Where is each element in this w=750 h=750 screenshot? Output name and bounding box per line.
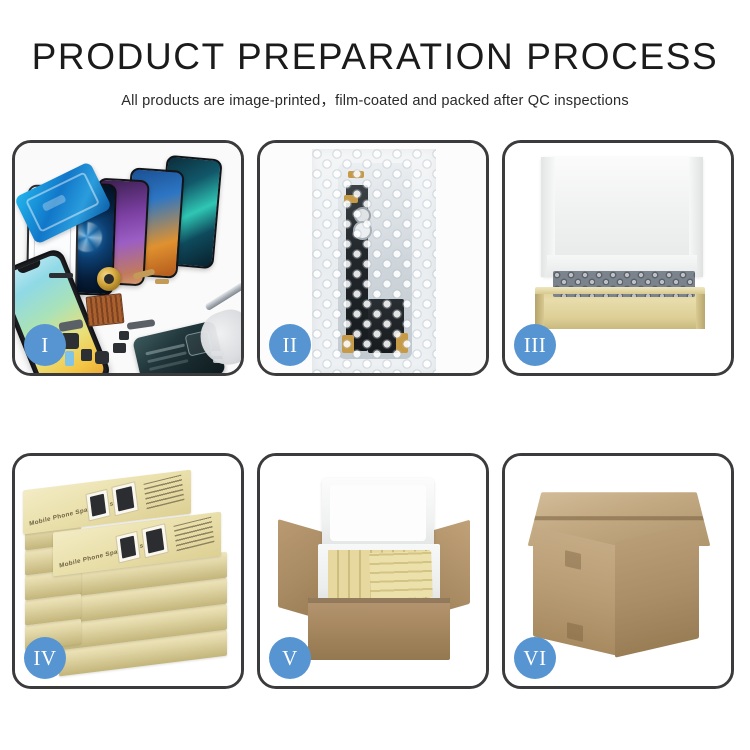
process-step-panel-1[interactable]: I: [12, 140, 244, 376]
box-spec-lines-1: [144, 475, 185, 510]
step-badge-3: III: [514, 324, 556, 366]
box-window-1b: [111, 481, 138, 516]
process-step-panel-4[interactable]: Mobile Phone Spare Parts Mobile Phone Sp…: [12, 453, 244, 689]
box-window-2b: [141, 523, 168, 558]
step-badge-1: I: [24, 324, 66, 366]
foam-box-open-lid: [322, 478, 434, 550]
carton-front-panel: [308, 598, 450, 660]
process-step-panel-3[interactable]: III: [502, 140, 734, 376]
carton-tape-upper: [565, 550, 581, 570]
page-subtitle: All products are image-printed，film-coat…: [0, 89, 750, 110]
box-spec-lines-2: [174, 517, 215, 552]
carton-right-face: [615, 522, 699, 657]
small-part-square: [81, 349, 92, 361]
step-badge-2: II: [269, 324, 311, 366]
step-badge-5: V: [269, 637, 311, 679]
small-part-speaker: [113, 343, 126, 353]
small-part-connector-tan: [155, 279, 169, 284]
small-part-camera: [95, 351, 109, 364]
carton-tape-lower: [567, 622, 583, 642]
box-window-2a: [115, 531, 140, 564]
copper-chip-part: [86, 293, 125, 327]
step-badge-6: VI: [514, 637, 556, 679]
process-step-panel-5[interactable]: V: [257, 453, 489, 689]
small-part-blue-chip: [65, 351, 74, 366]
yellow-box-lip: [535, 287, 705, 294]
process-step-panel-6[interactable]: VI: [502, 453, 734, 689]
small-part-strip: [49, 273, 73, 278]
step-badge-4: IV: [24, 637, 66, 679]
box-window-1a: [85, 489, 110, 522]
yellow-boxes-inside-right: [369, 551, 433, 599]
bubble-wrap-texture: [312, 149, 436, 373]
process-step-panel-2[interactable]: II: [257, 140, 489, 376]
header: PRODUCT PREPARATION PROCESS All products…: [0, 0, 750, 110]
small-part-ic: [119, 331, 129, 340]
process-panel-grid: I II: [12, 140, 738, 689]
bubble-wrap-package: [312, 149, 436, 373]
page-title: PRODUCT PREPARATION PROCESS: [0, 38, 750, 77]
copper-coil-part: [97, 267, 121, 291]
